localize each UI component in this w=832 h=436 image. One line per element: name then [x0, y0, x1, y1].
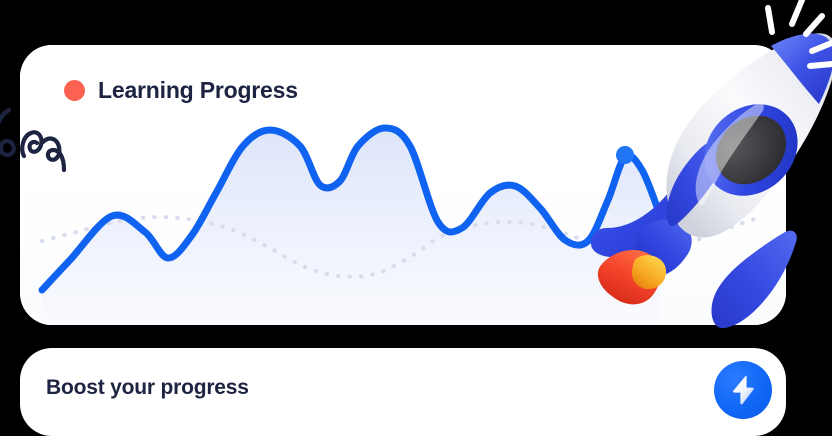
boost-action-button[interactable]	[714, 361, 772, 419]
boost-title: Boost your progress	[46, 376, 249, 400]
rocket-fin-bottom	[712, 231, 797, 329]
speed-line-1	[768, 8, 772, 32]
speed-line-3	[806, 16, 822, 34]
motion-speed-lines	[748, 0, 832, 82]
lightning-bolt-icon	[730, 375, 756, 405]
speed-line-2	[792, 0, 802, 24]
speed-line-4	[812, 42, 832, 51]
card-header: Learning Progress	[64, 77, 298, 104]
page-title: Learning Progress	[98, 77, 298, 104]
screenshot-canvas: Learning Progress Boost your progress	[0, 0, 832, 436]
speed-line-5	[810, 64, 832, 66]
curly-squiggle-doodle	[0, 108, 90, 194]
status-dot-icon	[64, 80, 85, 101]
rocket-flame-inner	[632, 255, 666, 289]
